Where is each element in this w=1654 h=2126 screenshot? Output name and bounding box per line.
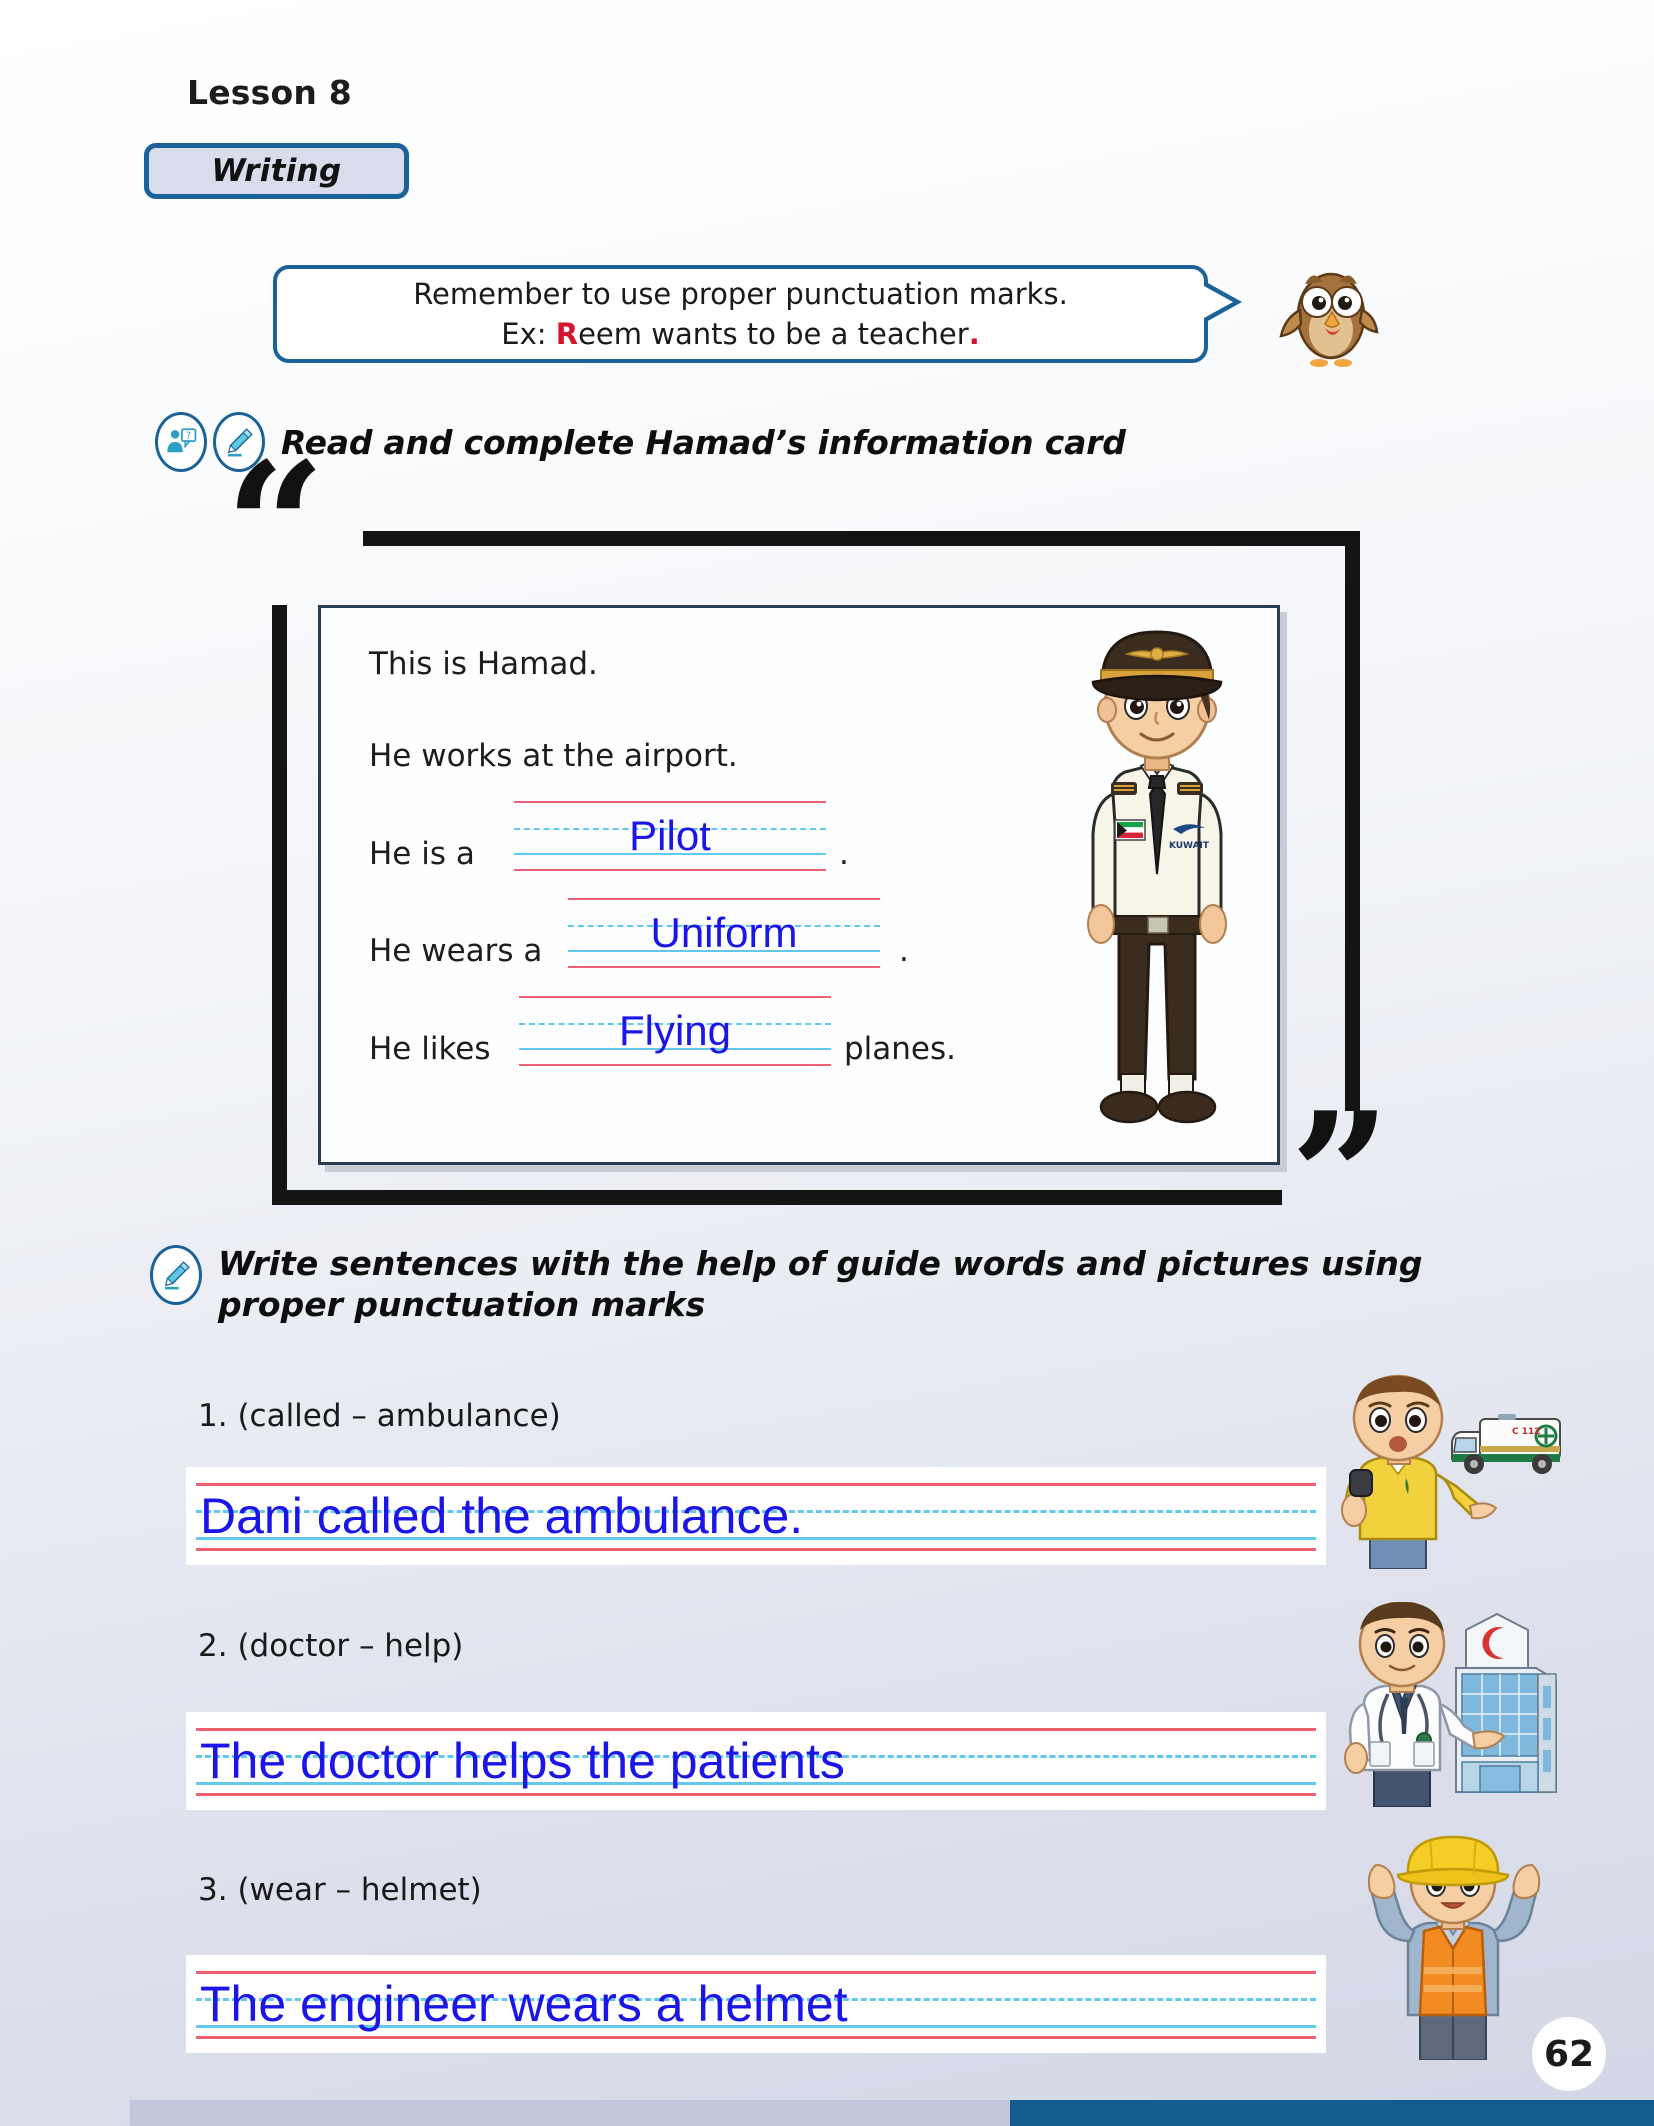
instruction-1-text: Read and complete Hamad’s information ca… [281,423,1126,462]
lesson-title: Lesson 8 [187,73,352,112]
exercise-3-answer: The engineer wears a helmet [200,1979,848,2029]
card-line-4-prefix: He wears a [369,933,542,969]
tip-line-2-prefix: Ex: [501,317,555,351]
exercise-3-label: 3. (wear – helmet) [198,1872,482,1908]
card-frame-right [1345,531,1360,1111]
card-line-1: This is Hamad. [369,646,598,682]
exercise-2-number: 2. [198,1628,237,1664]
page-number: 62 [1532,2017,1606,2091]
svg-text:KUWAIT: KUWAIT [1169,841,1210,851]
card-line-2: He works at the airport. [369,738,738,774]
answer-slot-occupation[interactable]: Pilot [514,801,826,871]
footer-bar-right [1010,2100,1654,2126]
exercise-1-number: 1. [198,1398,237,1434]
engineer-helmet-illustration [1352,1835,1557,2060]
skill-chip-label: Writing [211,153,341,189]
tip-line-2-rest: eem wants to be a teacher [578,317,969,351]
answer-slot-hobby[interactable]: Flying [519,996,831,1066]
owl-mascot-icon [1255,258,1395,368]
card-frame-bottom [272,1190,1282,1205]
answer-clothing: Uniform [568,912,880,954]
card-line-5-prefix: He likes [369,1031,491,1067]
discuss-icon: ? [155,412,207,472]
tip-speech-bubble: Remember to use proper punctuation marks… [273,265,1208,363]
exercise-3-number: 3. [198,1872,237,1908]
exercise-3-guide-words: (wear – helmet) [237,1872,481,1908]
tip-line-2-period: . [969,317,980,351]
quote-close-mark: ” [1290,1090,1391,1265]
card-line-3-prefix: He is a [369,836,475,872]
answer-slot-clothing[interactable]: Uniform [568,898,880,968]
card-line-3-suffix: . [839,836,849,872]
doctor-hospital-illustration [1330,1602,1568,1807]
pilot-illustration: KUWAIT [1053,624,1263,1144]
card-frame-left [272,605,287,1205]
hamad-information-card: This is Hamad. He works at the airport. … [318,605,1280,1165]
exercise-2-answer: The doctor helps the patients [200,1736,845,1786]
instruction-2-line-1: Write sentences with the help of guide w… [218,1243,1423,1284]
tip-line-2-highlight: R [556,317,578,351]
svg-text:C 112: C 112 [1512,1427,1541,1437]
exercise-1-answer-slot[interactable]: Dani called the ambulance. [186,1467,1326,1565]
instruction-2-line-2: proper punctuation marks [218,1284,1423,1325]
card-line-4-suffix: . [899,933,909,969]
exercise-2-answer-slot[interactable]: The doctor helps the patients [186,1712,1326,1810]
pencil-icon [150,1245,202,1305]
exercise-2-label: 2. (doctor – help) [198,1628,463,1664]
boy-calling-ambulance-illustration: C 112 [1330,1374,1568,1569]
tip-line-1: Remember to use proper punctuation marks… [413,275,1068,314]
answer-occupation: Pilot [514,815,826,857]
quote-open-mark: “ [225,440,326,615]
answer-hobby: Flying [519,1010,831,1052]
card-line-5-suffix: planes. [844,1031,956,1067]
speech-bubble-tail-inner [1204,286,1233,318]
svg-text:?: ? [186,431,191,442]
skill-chip-writing: Writing [144,143,409,199]
instruction-2-text-block: Write sentences with the help of guide w… [218,1243,1423,1326]
tip-line-2: Ex: Reem wants to be a teacher. [501,315,979,354]
worksheet-page: Lesson 8 Writing Remember to use proper … [0,0,1654,2126]
exercise-1-guide-words: (called – ambulance) [237,1398,560,1434]
exercise-1-answer: Dani called the ambulance. [200,1491,803,1541]
card-frame-top [363,531,1360,546]
exercise-1-label: 1. (called – ambulance) [198,1398,561,1434]
exercise-2-guide-words: (doctor – help) [237,1628,463,1664]
instruction-row-2: Write sentences with the help of guide w… [150,1243,1550,1326]
exercise-3-answer-slot[interactable]: The engineer wears a helmet [186,1955,1326,2053]
footer-bar-left [130,2100,1010,2126]
